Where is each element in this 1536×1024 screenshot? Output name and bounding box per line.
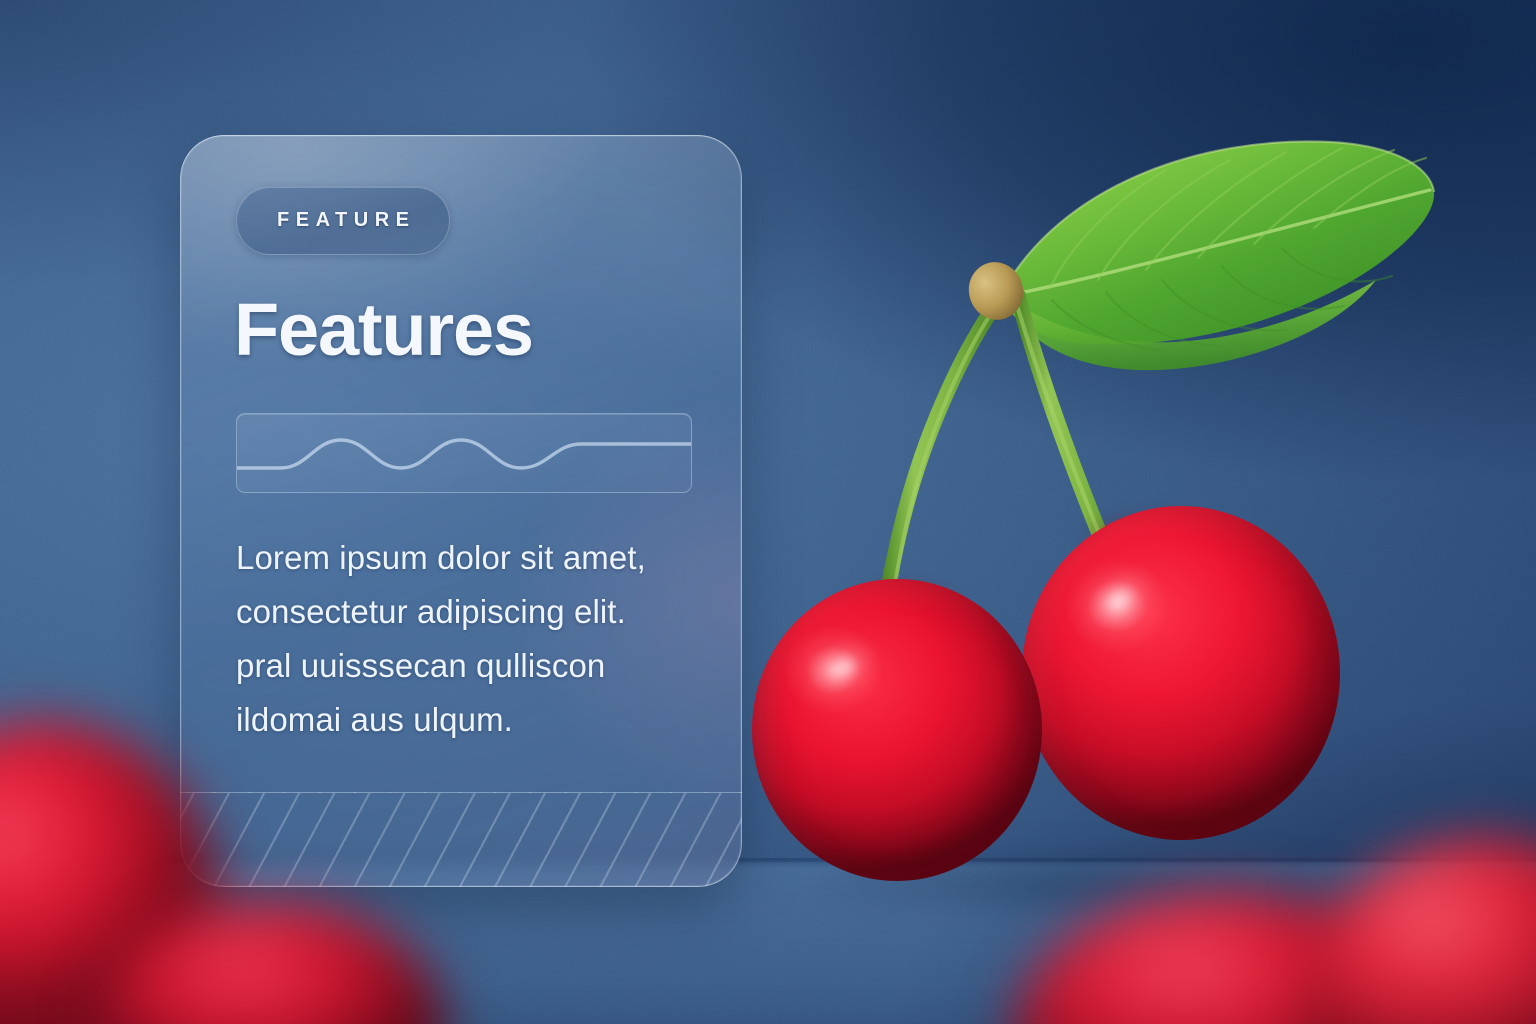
wave-divider-panel [236,413,692,493]
feature-badge[interactable]: FEATURE [236,186,450,255]
wave-divider-icon [237,414,691,492]
card-body-copy: Lorem ipsum dolor sit amet, consectetur … [236,531,676,747]
body-line-2: consectetur adipiscing elit. [236,585,676,639]
feature-badge-label: FEATURE [271,209,416,232]
body-line-3: pral uuisssecan qulliscon [236,639,676,693]
cherry-fruit-left [752,579,1042,881]
body-line-4: ildomai aus ulqum. [236,693,676,747]
stem-left-hl [889,306,996,623]
card-title: Features [234,293,533,367]
feature-glass-card[interactable]: FEATURE Features Lorem ipsum dolor sit a… [180,135,742,887]
cherry-fruit-right [1022,506,1340,840]
card-hatch-footer [180,792,742,887]
body-line-1: Lorem ipsum dolor sit amet, [236,531,676,585]
cherry-group [730,120,1490,910]
scene-stage: FEATURE Features Lorem ipsum dolor sit a… [0,0,1536,1024]
